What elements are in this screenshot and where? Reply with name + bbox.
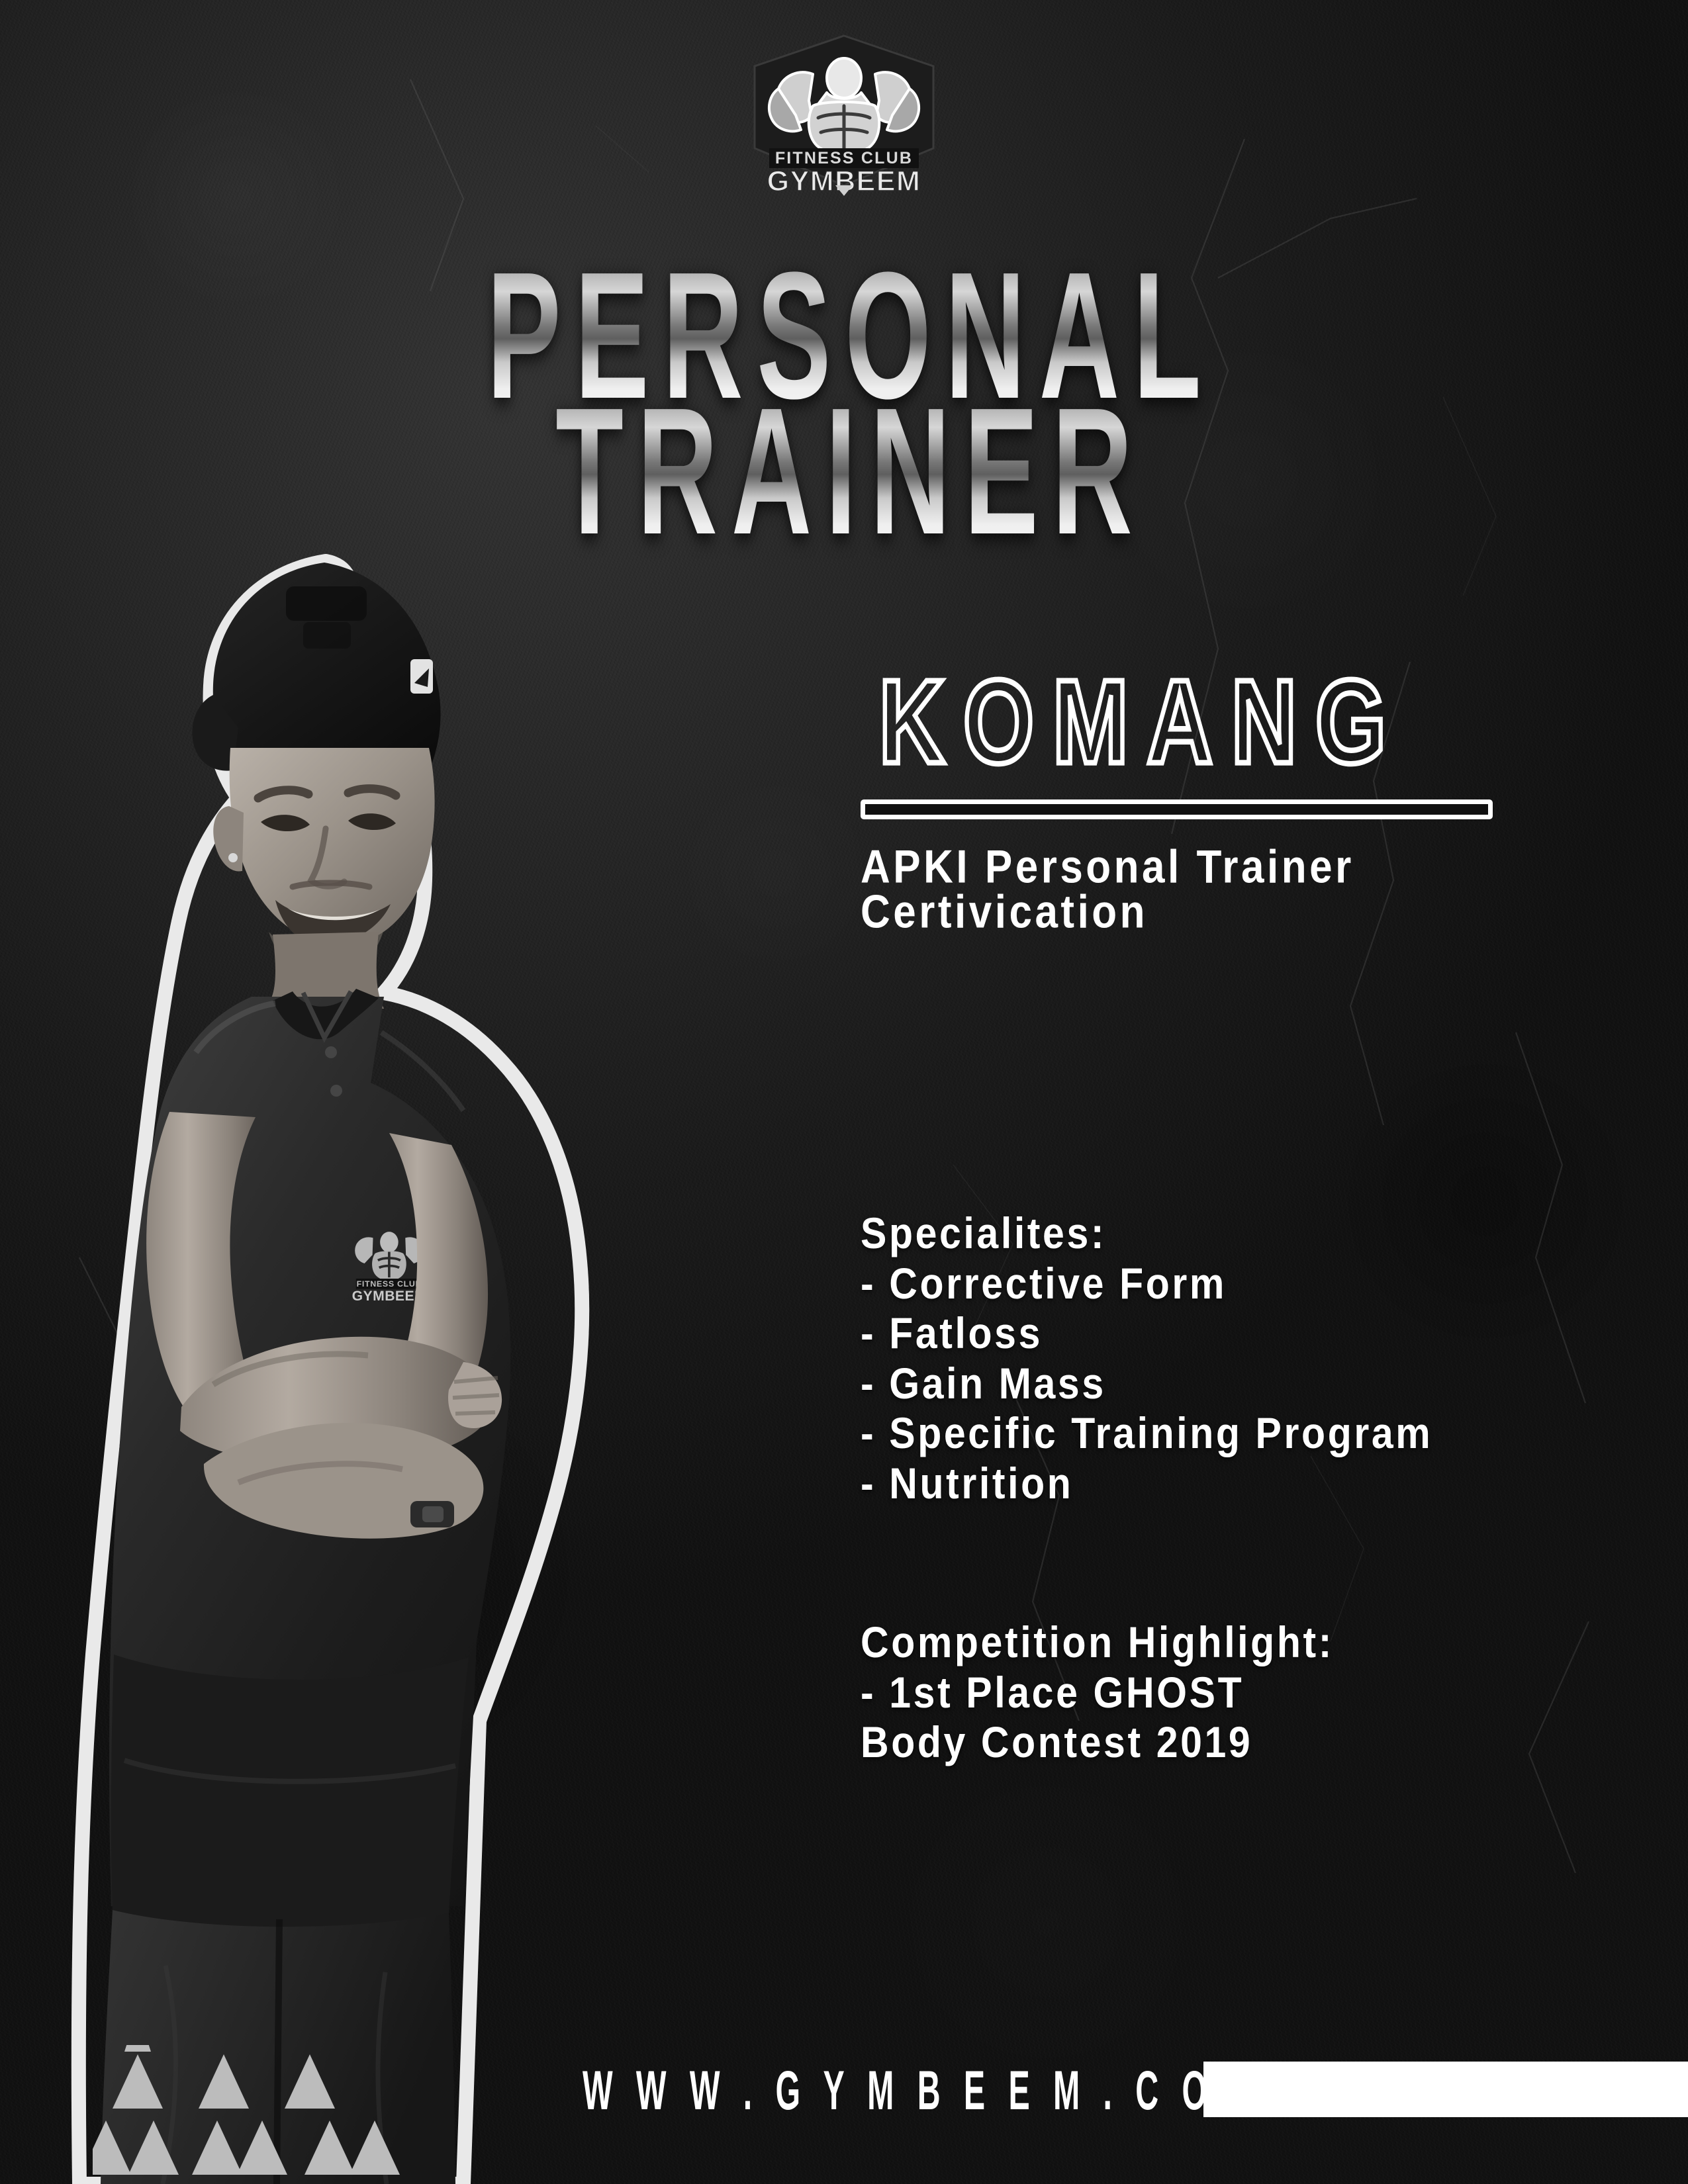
specialties-heading: Specialites: [861,1206,1675,1262]
specialties-item: - Fatloss [861,1306,1675,1362]
poster-canvas: FITNESS CLUB GYMBEEM PERSONAL TRAINER [0,0,1688,2184]
competition-item: Body Contest 2019 [861,1715,1655,1771]
triangle-decoration [93,2045,516,2177]
competition-heading: Competition Highlight: [861,1615,1655,1671]
specialties-item: - Nutrition [861,1456,1675,1512]
page-title: PERSONAL TRAINER [0,251,1688,517]
triangle-cluster-icon [93,2045,516,2177]
brand-logo: FITNESS CLUB GYMBEEM [0,32,1688,197]
certification-line-2: Certivication [861,887,1642,938]
bodybuilder-flex-icon: FITNESS CLUB GYMBEEM [735,32,953,197]
specialties-item: - Corrective Form [861,1256,1675,1312]
specialties-item: - Specific Training Program [861,1406,1675,1462]
shirt-logo-club-text: FITNESS CLUB [357,1279,422,1289]
profile-name-block: KOMANG APKI Personal Trainer Certivicati… [861,662,1642,932]
name-underline-rule [861,799,1493,819]
website-url[interactable]: W W W . G Y M B E E M . C O M [583,2060,1264,2122]
logo-club-text: FITNESS CLUB [775,149,913,167]
trainer-photo: FITNESS CLUB GYMBEEM [40,529,874,2184]
competition-item: - 1st Place GHOST [861,1665,1655,1721]
trainer-portrait-illustration: FITNESS CLUB GYMBEEM [40,529,874,2184]
trainer-name: KOMANG [861,662,1579,781]
footer-accent-bar [1203,2062,1688,2117]
specialties-block: Specialites: - Corrective Form - Fatloss… [861,1206,1675,1506]
competition-block: Competition Highlight: - 1st Place GHOST… [861,1615,1655,1765]
specialties-item: - Gain Mass [861,1356,1675,1412]
